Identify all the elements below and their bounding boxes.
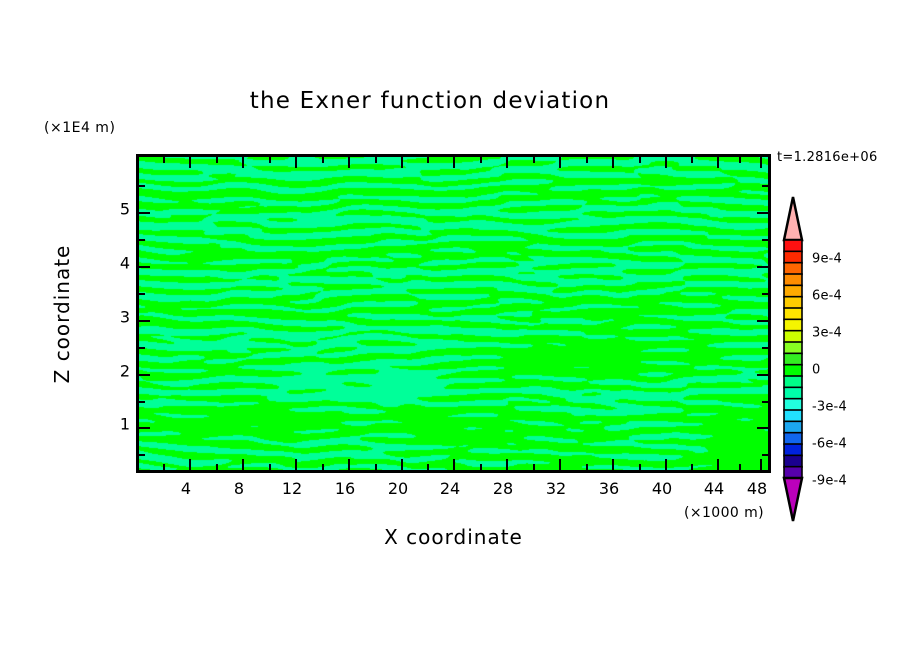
x-axis-minor-tick (739, 157, 741, 163)
y-axis-tick (757, 374, 768, 376)
x-axis-tick (559, 459, 561, 470)
x-axis-tick (401, 157, 403, 168)
x-axis-tick (295, 459, 297, 470)
x-axis-tick (506, 157, 508, 168)
y-axis-minor-tick (762, 185, 768, 187)
y-tick-label: 3 (120, 308, 130, 327)
x-tick-label: 12 (282, 479, 302, 498)
x-axis-minor-tick (375, 157, 377, 163)
colorbar-tick-label: -9e-4 (812, 474, 847, 489)
y-axis-minor-tick (762, 401, 768, 403)
x-axis-tick (453, 157, 455, 168)
x-axis-minor-tick (322, 157, 324, 163)
y-axis-tick (139, 212, 150, 214)
y-axis-minor-tick (139, 185, 145, 187)
x-tick-label: 8 (234, 479, 244, 498)
x-axis-tick (612, 157, 614, 168)
y-axis-minor-tick (139, 239, 145, 241)
y-axis-tick (757, 266, 768, 268)
colorbar-tick-label: 6e-4 (812, 289, 842, 304)
x-tick-label: 24 (440, 479, 460, 498)
colorbar-tick-label: 9e-4 (812, 252, 842, 267)
x-axis-minor-tick (586, 464, 588, 470)
x-axis-tick (665, 157, 667, 168)
y-axis-title: Z coordinate (50, 245, 74, 384)
y-tick-label: 4 (120, 254, 130, 273)
x-axis-tick (506, 459, 508, 470)
y-axis-minor-tick (762, 239, 768, 241)
y-axis-minor-tick (139, 454, 145, 456)
x-axis-minor-tick (427, 464, 429, 470)
y-axis-minor-tick (139, 401, 145, 403)
x-axis-minor-tick (533, 464, 535, 470)
x-tick-label: 28 (493, 479, 513, 498)
x-axis-minor-tick (216, 157, 218, 163)
x-axis-minor-tick (739, 464, 741, 470)
x-axis-minor-tick (269, 464, 271, 470)
x-axis-tick (612, 459, 614, 470)
x-axis-tick (401, 459, 403, 470)
contour-field-canvas (139, 157, 768, 470)
colorbar-tick-label: -3e-4 (812, 400, 847, 415)
x-axis-tick (189, 459, 191, 470)
x-tick-label: 44 (704, 479, 724, 498)
y-axis-tick (139, 266, 150, 268)
x-axis-minor-tick (375, 464, 377, 470)
x-tick-label: 32 (546, 479, 566, 498)
y-axis-minor-tick (762, 347, 768, 349)
x-axis-tick (348, 459, 350, 470)
x-axis-tick (242, 157, 244, 168)
y-axis-tick (139, 427, 150, 429)
x-axis-minor-tick (480, 157, 482, 163)
x-axis-minor-tick (216, 464, 218, 470)
contour-plot-area (136, 154, 771, 473)
y-axis-tick (757, 320, 768, 322)
colorbar (781, 196, 805, 522)
x-tick-label: 20 (388, 479, 408, 498)
page-title: the Exner function deviation (0, 88, 860, 114)
x-axis-minor-tick (163, 157, 165, 163)
x-tick-label: 4 (181, 479, 191, 498)
x-axis-minor-tick (691, 464, 693, 470)
x-tick-label: 16 (335, 479, 355, 498)
x-axis-minor-tick (163, 464, 165, 470)
x-axis-tick (665, 459, 667, 470)
y-tick-label: 5 (120, 200, 130, 219)
colorbar-tick-label: 3e-4 (812, 326, 842, 341)
x-axis-tick (242, 459, 244, 470)
x-tick-label: 40 (652, 479, 672, 498)
y-axis-tick (139, 320, 150, 322)
y-axis-tick (757, 427, 768, 429)
x-axis-tick (760, 157, 762, 168)
x-axis-minor-tick (322, 464, 324, 470)
y-axis-minor-tick (139, 293, 145, 295)
x-tick-label: 36 (599, 479, 619, 498)
colorbar-tick-label: -6e-4 (812, 437, 847, 452)
y-tick-label: 1 (120, 415, 130, 434)
x-tick-label: 48 (747, 479, 767, 498)
x-axis-minor-tick (427, 157, 429, 163)
y-axis-minor-tick (762, 293, 768, 295)
x-axis-minor-tick (639, 464, 641, 470)
x-axis-tick (717, 459, 719, 470)
timestamp-annotation: t=1.2816e+06 (777, 150, 878, 165)
x-axis-minor-tick (480, 464, 482, 470)
colorbar-tick-label: 0 (812, 363, 820, 378)
y-tick-label: 2 (120, 362, 130, 381)
x-axis-tick (559, 157, 561, 168)
x-axis-title: X coordinate (136, 525, 771, 549)
x-axis-tick (717, 157, 719, 168)
x-axis-minor-tick (533, 157, 535, 163)
colorbar-svg (781, 196, 805, 522)
x-axis-tick (348, 157, 350, 168)
y-axis-tick (757, 212, 768, 214)
x-axis-unit-label: (×1000 m) (684, 505, 764, 521)
y-axis-minor-tick (139, 347, 145, 349)
y-axis-tick (139, 374, 150, 376)
x-axis-tick (295, 157, 297, 168)
x-axis-tick (453, 459, 455, 470)
y-axis-minor-tick (762, 454, 768, 456)
x-axis-minor-tick (586, 157, 588, 163)
x-axis-minor-tick (269, 157, 271, 163)
y-axis-unit-label: (×1E4 m) (44, 120, 115, 136)
x-axis-minor-tick (691, 157, 693, 163)
x-axis-tick (760, 459, 762, 470)
x-axis-minor-tick (639, 157, 641, 163)
x-axis-tick (189, 157, 191, 168)
